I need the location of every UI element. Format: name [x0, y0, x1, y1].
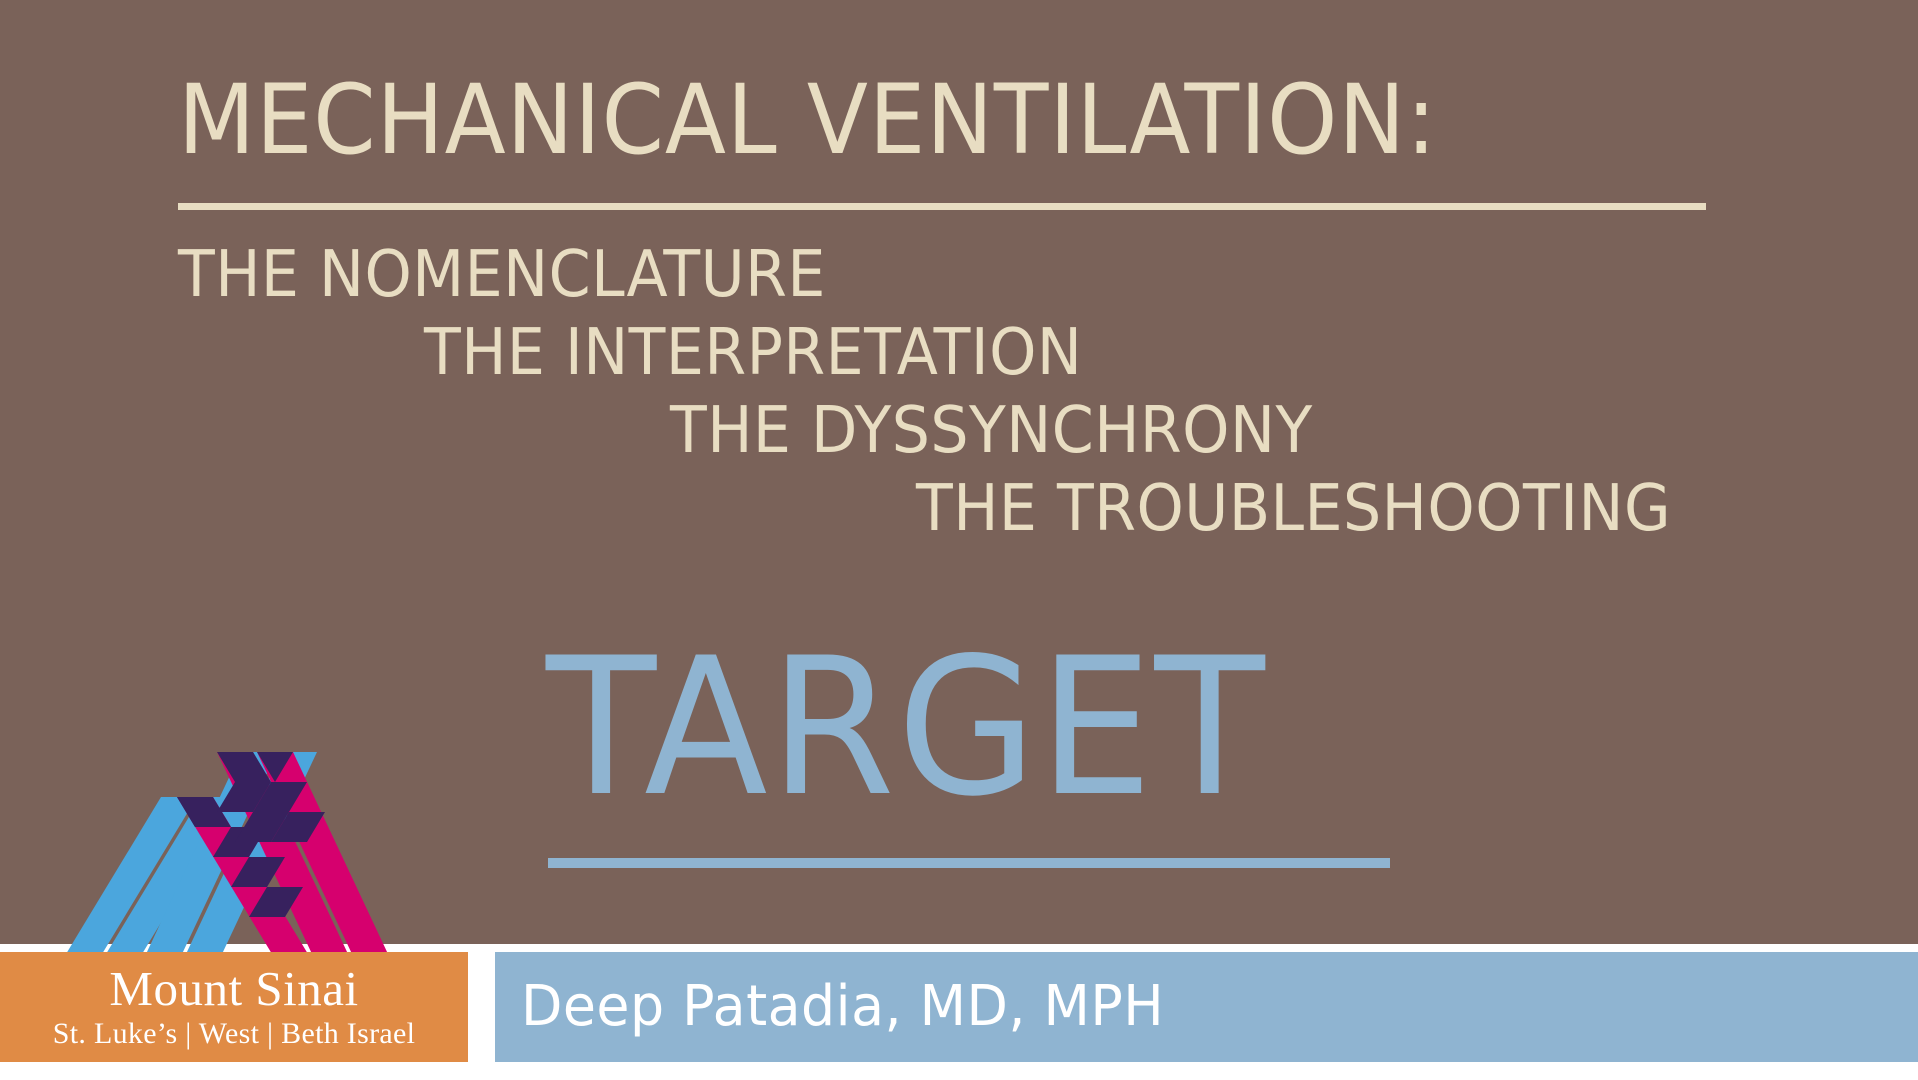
title-block: MECHANICAL VENTILATION:	[178, 72, 1738, 168]
mount-sinai-logo: Mount Sinai St. Luke’s | West | Beth Isr…	[0, 952, 468, 1062]
subtitle-line-nomenclature: THE NOMENCLATURE	[178, 236, 1701, 314]
bottom-white-strip	[0, 1062, 1918, 1080]
slide: MECHANICAL VENTILATION: THE NOMENCLATURE…	[0, 0, 1918, 1080]
page-title: MECHANICAL VENTILATION:	[178, 72, 1629, 168]
presenter-bar: Deep Patadia, MD, MPH	[495, 952, 1918, 1062]
subtitle-line-dyssynchrony: THE DYSSYNCHRONY	[670, 392, 1730, 470]
subtitle-line-interpretation: THE INTERPRETATION	[424, 314, 1716, 392]
subtitle-line-troubleshooting: THE TROUBLESHOOTING	[916, 470, 1745, 548]
target-underline	[548, 858, 1390, 868]
target-block: TARGET	[546, 628, 1305, 828]
subtitle-list: THE NOMENCLATURE THE INTERPRETATION THE …	[178, 236, 1798, 548]
logo-tagline: St. Luke’s | West | Beth Israel	[53, 1016, 415, 1052]
title-underline	[178, 203, 1706, 210]
presenter-name: Deep Patadia, MD, MPH	[521, 977, 1164, 1037]
target-heading: TARGET	[546, 628, 1267, 828]
logo-name: Mount Sinai	[109, 962, 358, 1016]
mount-sinai-peaks-icon	[62, 742, 402, 954]
